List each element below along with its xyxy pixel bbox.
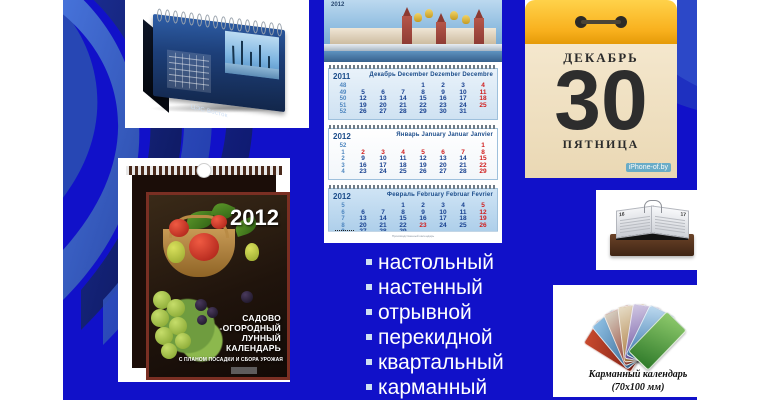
pocket-calendar-photo: Карманный календарь (70х100 мм): [553, 285, 697, 397]
bullet-square-icon: [366, 359, 372, 365]
wall-title-line-1: САДОВО: [177, 313, 281, 323]
quarterly-month-block: 2012 Январь January Januar Janvier 521 1…: [328, 128, 498, 180]
bullet-square-icon: [366, 259, 372, 265]
pocket-cards-stage: Карманный календарь (70х100 мм): [553, 285, 697, 397]
wall-calendar-title: САДОВО -ОГОРОДНЫЙ ЛУННЫЙ КАЛЕНДАРЬ: [177, 313, 281, 353]
hanger-icon: [575, 16, 627, 28]
tear-off-sheet: ДЕКАБРЬ 30 ПЯТНИЦА iPhone-of.by: [525, 44, 677, 178]
tear-off-weekday: ПЯТНИЦА: [525, 137, 677, 152]
kremlin-tower: [436, 22, 446, 46]
slide-root: ЦЭС Восток 2012: [0, 0, 760, 400]
tear-off-day: 30: [525, 62, 677, 139]
desk-photo-image: [225, 31, 279, 80]
list-item: настенный: [366, 275, 566, 300]
list-item-label: настольный: [378, 250, 494, 275]
wall-calendar-artwork: 2012 САДОВО -ОГОРОДНЫЙ ЛУННЫЙ КАЛЕНДАРЬ …: [146, 192, 290, 380]
list-item-label: квартальный: [378, 350, 504, 375]
desk-month-grid: [167, 50, 211, 93]
wall-calendar-card: 2012 САДОВО -ОГОРОДНЫЙ ЛУННЫЙ КАЛЕНДАРЬ …: [126, 166, 282, 374]
list-item: перекидной: [366, 325, 566, 350]
slide-canvas: ЦЭС Восток 2012: [63, 0, 697, 400]
bullet-square-icon: [366, 309, 372, 315]
list-item-label: настенный: [378, 275, 483, 300]
quarterly-header-photo: 2012: [324, 0, 502, 62]
moskva-river: [324, 51, 502, 62]
month-block-name: Январь January Januar Janvier: [396, 132, 493, 138]
wall-title-line-2: -ОГОРОДНЫЙ: [177, 323, 281, 333]
list-item: квартальный: [366, 350, 566, 375]
wall-calendar-photo: 2012 САДОВО -ОГОРОДНЫЙ ЛУННЫЙ КАЛЕНДАРЬ …: [118, 158, 290, 382]
wall-calendar-subtitle: С ПЛАНОМ ПОСАДКИ И СБОРА УРОЖАЯ: [153, 357, 283, 363]
bullet-square-icon: [366, 284, 372, 290]
month-block-name: Февраль February Februar Fevrier: [387, 192, 493, 198]
tear-off-calendar-photo: ДЕКАБРЬ 30 ПЯТНИЦА iPhone-of.by: [525, 0, 677, 178]
watermark-label: iPhone-of.by: [626, 163, 671, 172]
publisher-logo: [231, 367, 257, 374]
kremlin-dome: [450, 11, 458, 20]
tear-off-header: [525, 0, 677, 44]
wall-title-line-3: ЛУННЫЙ: [177, 333, 281, 343]
kremlin-dome: [462, 15, 470, 24]
pocket-caption-line-2: (70х100 мм): [553, 382, 697, 393]
flip-wire-holder: [644, 200, 662, 213]
desk-calendar-scene: ЦЭС Восток: [125, 0, 309, 128]
month-block-name: Декабрь December Dezember Decembre: [369, 72, 493, 78]
pocket-caption-line-1: Карманный календарь: [553, 369, 697, 380]
wall-calendar-year: 2012: [230, 207, 279, 229]
month-block-year: 2012: [333, 192, 351, 201]
kremlin-dome: [425, 9, 433, 18]
quarterly-month-block: 2011 Декабрь December Dezember Decembre …: [328, 68, 498, 120]
wall-hanging-hook: [197, 163, 212, 178]
list-item-label: отрывной: [378, 300, 472, 325]
month-block-grid: 481234 49567891011 5012131415161718 5119…: [333, 83, 493, 116]
kremlin-tower: [474, 18, 484, 46]
flip-right-page-number: 17: [680, 211, 686, 218]
list-item-label: перекидной: [378, 325, 493, 350]
month-block-grid: 521 12345678 29101112131415 316171819202…: [333, 143, 493, 176]
bullet-square-icon: [366, 334, 372, 340]
flip-right-lines: [655, 216, 685, 235]
flip-calendar-photo: 16 17: [596, 190, 697, 270]
desk-calendar-photo: ЦЭС Восток: [125, 0, 309, 128]
kremlin-dome: [414, 13, 422, 22]
quarterly-calendar-photo: 2012 2011 Декабрь December Dezember Dece…: [324, 0, 502, 243]
list-item: отрывной: [366, 300, 566, 325]
list-item: карманный: [366, 375, 566, 400]
flip-left-lines: [620, 216, 650, 235]
month-block-year: 2011: [333, 72, 350, 81]
bullet-square-icon: [366, 384, 372, 390]
perforation-strip: [329, 185, 497, 189]
list-item-label: карманный: [378, 375, 487, 400]
month-block-year: 2012: [333, 132, 351, 141]
kremlin-tower: [402, 16, 412, 46]
calendar-types-list: настольный настенный отрывной перекидной…: [366, 250, 566, 400]
quarterly-photo-year: 2012: [331, 2, 344, 8]
quarterly-footer-note: Производственный календарь: [328, 231, 498, 243]
flip-left-page-number: 16: [619, 211, 625, 218]
wall-title-line-4: КАЛЕНДАРЬ: [177, 343, 281, 353]
perforation-strip: [329, 65, 497, 69]
list-item: настольный: [366, 250, 566, 275]
perforation-strip: [329, 125, 497, 129]
